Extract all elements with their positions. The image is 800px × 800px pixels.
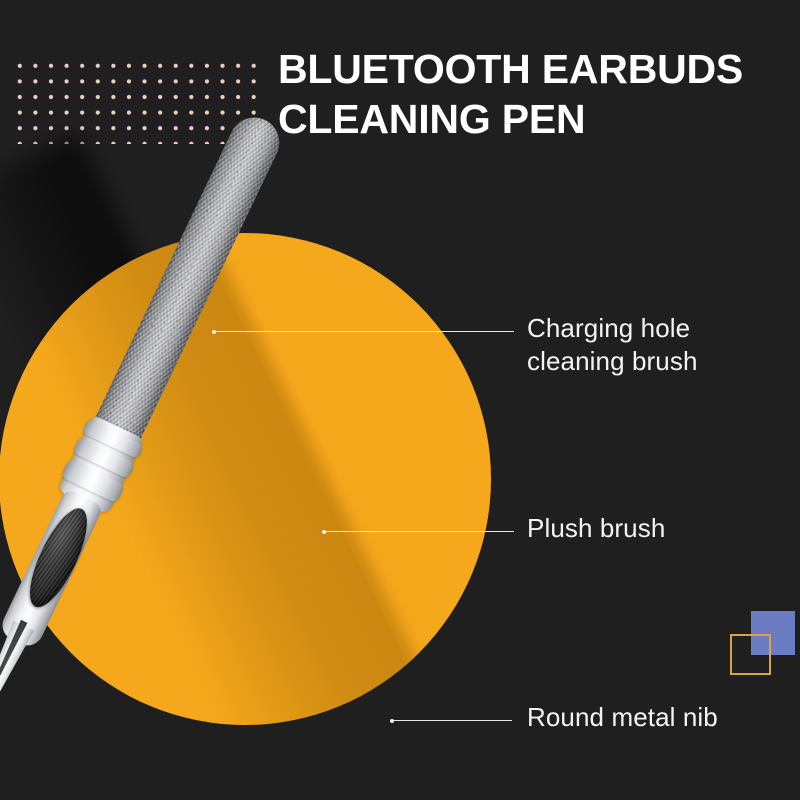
title-line-1: BLUETOOTH EARBUDS: [278, 44, 788, 94]
leader-anchor-dot: [390, 719, 394, 723]
callout-plush-brush: Plush brush: [527, 512, 665, 545]
title-line-2: CLEANING PEN: [278, 94, 788, 144]
leader-line-charging-hole-brush: [214, 331, 514, 332]
leader-anchor-dot: [322, 530, 326, 534]
callout-round-metal-nib: Round metal nib: [527, 701, 718, 734]
callout-charging-hole-cleaning-brush: Charging hole cleaning brush: [527, 312, 698, 378]
leader-line-metal-nib: [392, 720, 512, 721]
callout-line: Charging hole: [527, 312, 698, 345]
leader-line-plush-brush: [324, 531, 514, 532]
callout-line: Round metal nib: [527, 701, 718, 734]
callout-line: Plush brush: [527, 512, 665, 545]
product-infographic-canvas: BLUETOOTH EARBUDS CLEANING PEN Charging …: [0, 0, 800, 800]
gold-outline-square-decoration: [730, 634, 771, 675]
page-title: BLUETOOTH EARBUDS CLEANING PEN: [278, 44, 788, 144]
leader-anchor-dot: [212, 330, 216, 334]
callout-line: cleaning brush: [527, 345, 698, 378]
